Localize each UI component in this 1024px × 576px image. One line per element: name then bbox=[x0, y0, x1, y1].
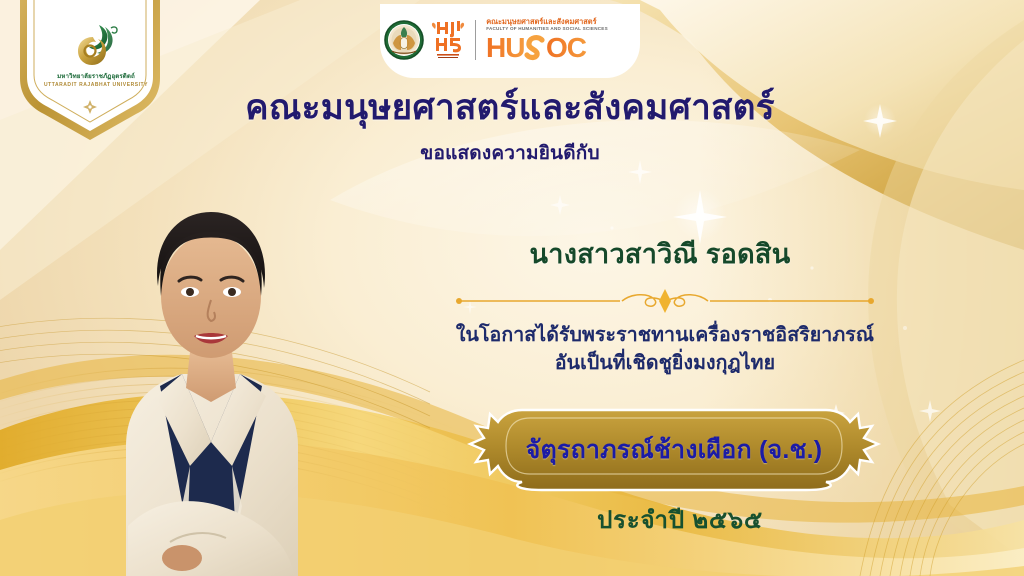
university-name-thai: มหาวิทยาลัยราชภัฏอุตรดิตถ์ bbox=[57, 71, 135, 81]
husoc-wordmark: HU OC bbox=[486, 32, 636, 62]
university-logo-plaque: มหาวิทยาลัยราชภัฏอุตรดิตถ์ UTTARADIT RAJ… bbox=[6, 0, 174, 156]
occasion-line-2: อันเป็นที่เชิดชูยิ่งมงกุฎไทย bbox=[430, 350, 900, 378]
occasion-text: ในโอกาสได้รับพระราชทานเครื่องราชอิสริยาภ… bbox=[430, 322, 900, 377]
royal-thai-garuda-seal bbox=[384, 20, 424, 60]
uttaradit-rajabhat-nine-emblem bbox=[69, 23, 123, 69]
medal-name: จัตุรถาภรณ์ช้างเผือก (จ.ช.) bbox=[466, 408, 882, 492]
certificate-canvas: มหาวิทยาลัยราชภัฏอุตรดิตถ์ UTTARADIT RAJ… bbox=[0, 0, 1024, 576]
honoree-name: นางสาวสาวิณี รอดสิน bbox=[430, 232, 890, 275]
diamond-flourish-divider bbox=[450, 288, 880, 314]
award-year: ประจำปี ๒๕๖๕ bbox=[470, 500, 890, 539]
congratulations-line: ขอแสดงความยินดีกับ bbox=[260, 138, 760, 168]
svg-text:HU: HU bbox=[486, 32, 524, 62]
occasion-line-1: ในโอกาสได้รับพระราชทานเครื่องราชอิสริยาภ… bbox=[430, 322, 900, 350]
university-name-english: UTTARADIT RAJABHAT UNIVERSITY bbox=[44, 82, 148, 88]
faculty-name-english: FACULTY OF HUMANITIES AND SOCIAL SCIENCE… bbox=[486, 26, 636, 32]
badge-divider bbox=[475, 20, 476, 60]
husoc-faculty-badge: คณะมนุษยศาสตร์และสังคมศาสตร์ FACULTY OF … bbox=[380, 4, 640, 78]
honoree-portrait-photo bbox=[86, 146, 336, 576]
page-title: คณะมนุษยศาสตร์และสังคมศาสตร์ bbox=[190, 88, 830, 127]
husoc-thai-monogram bbox=[431, 18, 465, 62]
svg-text:OC: OC bbox=[546, 32, 587, 62]
faculty-name-thai: คณะมนุษยศาสตร์และสังคมศาสตร์ bbox=[486, 18, 636, 26]
